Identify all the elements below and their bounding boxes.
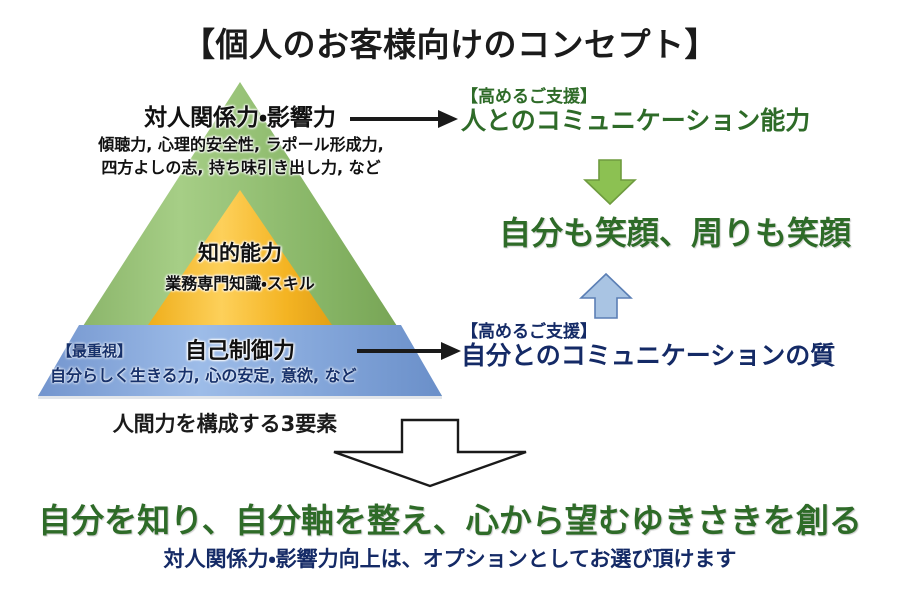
pyramid-label-interpersonal: 対人関係力・影響力 <box>95 98 385 132</box>
pyramid-label-self-control: 自己制御力 <box>150 333 330 365</box>
green-down-arrow <box>582 158 638 206</box>
connector-arrow-top <box>348 108 460 130</box>
pyramid-sublabel-self-control: 自分らしく生きる力, 心の安定, 意欲, など <box>50 362 440 386</box>
page-title: 【個人のお客様向けのコンセプト】 <box>0 18 900 66</box>
pyramid-sublabel-interpersonal: 傾聴力, 心理的安全性, ラポール形成力, 四方よしの志, 持ち味引き出し力, … <box>36 133 446 179</box>
support-note-bottom: 【高めるご支援】 自分とのコミュニケーションの質 <box>461 323 891 370</box>
big-hollow-down-arrow <box>330 417 530 489</box>
bottom-note: 対人関係力・影響力向上は、オプションとしてお選び頂けます <box>0 543 900 573</box>
support-note-bottom-headline: 自分とのコミュニケーションの質 <box>461 342 891 371</box>
support-note-bottom-bracket: 【高めるご支援】 <box>461 323 891 342</box>
pyramid-sublabel-interpersonal-line1: 傾聴力, 心理的安全性, ラポール形成力, <box>36 133 446 156</box>
support-note-top-bracket: 【高めるご支援】 <box>461 88 891 107</box>
support-note-top: 【高めるご支援】 人とのコミュニケーション能力 <box>461 88 891 135</box>
connector-arrow-bottom <box>355 340 463 362</box>
bottom-headline: 自分を知り、自分軸を整え、心から望むゆきさきを創る <box>0 494 900 542</box>
support-note-top-headline: 人とのコミュニケーション能力 <box>461 107 891 136</box>
pyramid-tag-most-important: 【最重視】 <box>57 340 132 361</box>
center-highlight-text: 自分も笑顔、周りも笑顔 <box>455 208 895 254</box>
blue-up-arrow <box>578 272 634 320</box>
pyramid-sublabel-intellectual: 業務専門知識・スキル <box>110 270 370 294</box>
concept-diagram-canvas: 【個人のお客様向けのコンセプト】 <box>0 0 900 600</box>
pyramid-sublabel-interpersonal-line2: 四方よしの志, 持ち味引き出し力, など <box>36 156 446 179</box>
pyramid-label-intellectual: 知的能力 <box>140 237 340 267</box>
